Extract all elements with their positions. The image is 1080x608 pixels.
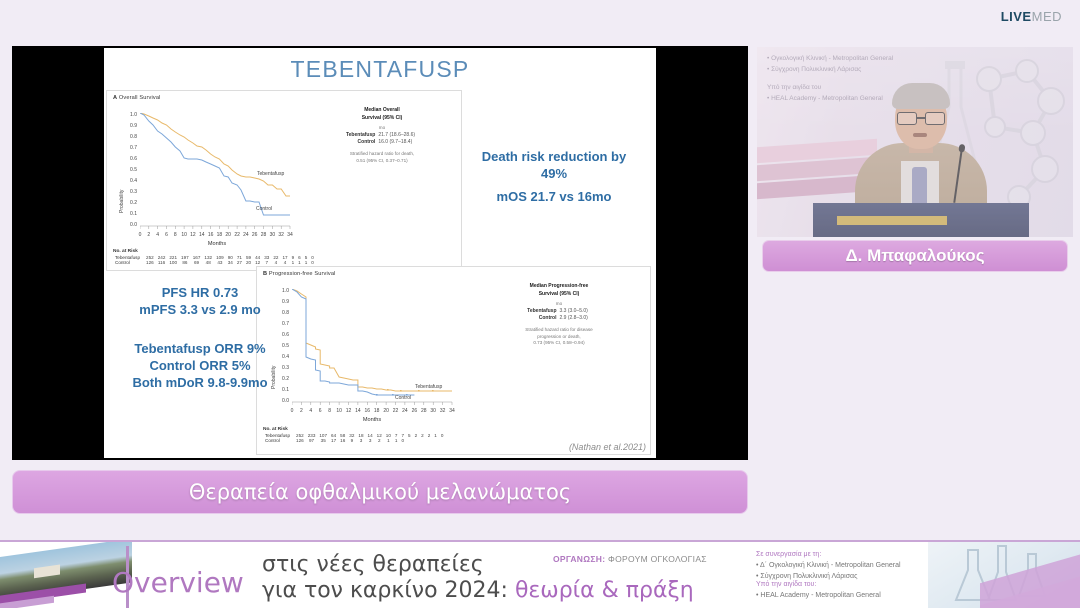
chart-a-ytick-0.5: 0.5 [121, 167, 137, 173]
banner-subtitle-line-1: στις νέες θεραπείες [262, 552, 484, 577]
chart-b-ytick-0.7: 0.7 [273, 321, 289, 327]
chart-a-stats: Median Overall Survival (95% CI) mo Tebe… [307, 107, 457, 164]
chart-a-risk-cell: 43 [214, 260, 226, 265]
chart-b-xlabel: Months [322, 417, 422, 423]
chart-a-stat-name-0: Tebentafusp [346, 132, 378, 140]
annotation-os-line-2: 49% [456, 165, 652, 182]
chart-a-risk-row-control: Control 126 116 100 86 69 48 43 34 27 20… [113, 260, 316, 265]
chart-b-risk-cell: 3 [366, 438, 375, 443]
chart-a-risk-cell: 34 [226, 260, 235, 265]
svg-text:Tebentafusp: Tebentafusp [415, 384, 442, 390]
chart-a-ytick-0.7: 0.7 [121, 145, 137, 151]
chart-a-ytick-0.0: 0.0 [121, 222, 137, 228]
chart-a-risk-cell: 7 [262, 260, 271, 265]
chart-a-ytick-0.8: 0.8 [121, 134, 137, 140]
chart-b-stat-name-1: Control [527, 315, 559, 323]
chart-a-stat-value-1: 16.0 (9.7–18.4) [378, 139, 418, 147]
top-bar: LIVEMED [0, 0, 1080, 36]
annotation-os-line-1: Death risk reduction by [456, 148, 652, 165]
bottom-banner: Overview στις νέες θεραπείες για τον καρ… [0, 540, 1080, 608]
chart-a-stat-row-control: Control 16.0 (9.7–18.4) [346, 139, 418, 147]
chart-a-hazard-line-1: Stratified hazard ratio for death, [307, 151, 457, 158]
chart-overall-survival: A Overall Survival 1.0 0.9 0.8 0.7 0.6 0… [106, 90, 462, 271]
brand-part-med: MED [1032, 9, 1062, 24]
speaker-name-bar: Δ. Μπαφαλούκος [762, 240, 1068, 272]
chart-b-risk-cell: 35 [317, 438, 329, 443]
chart-b-hazard-line-2: progression or death, [475, 334, 643, 341]
topic-label: Θεραπεία οφθαλμικού μελανώματος [189, 480, 571, 504]
chart-b-stat-row-control: Control 2.9 (2.8–3.0) [527, 315, 591, 323]
chart-b-risk-cell: 3 [356, 438, 365, 443]
annotation-orr-line-1: Tebentafusp ORR 9% [108, 340, 292, 357]
annotation-orr-line-3: Both mDoR 9.8-9.9mo [108, 374, 292, 391]
banner-aegis-header: Υπό την αιγίδα του: [756, 580, 881, 591]
annotation-pfs: PFS HR 0.73 mPFS 3.3 vs 2.9 mo [108, 284, 292, 318]
chart-b-risk-name-1: Control [263, 438, 294, 443]
chart-b-ytick-0.0: 0.0 [273, 398, 289, 404]
banner-aegis-item-1: • HEAL Academy - Metropolitan General [756, 591, 881, 602]
chart-a-risk-title: No. at Risk [113, 249, 316, 254]
chart-a-xlabel: Months [167, 241, 267, 247]
chart-a-title: Overall Survival [119, 95, 161, 101]
banner-subtitle-accent: θεωρία & πράξη [515, 578, 694, 603]
chart-b-risk-cell: 126 [294, 438, 306, 443]
chart-a-ytick-0.4: 0.4 [121, 178, 137, 184]
chart-b-plot: Tebentafusp Control [292, 289, 454, 407]
chart-b-letter: B [263, 271, 267, 277]
chart-a-stat-name-1: Control [346, 139, 378, 147]
chart-a-ytick-0.9: 0.9 [121, 123, 137, 129]
chart-b-risk-table: No. at Risk Tebentafusp 252 233 107 64 5… [263, 427, 445, 443]
chart-b-risk-cell: 16 [338, 438, 347, 443]
chart-a-hazard-note: Stratified hazard ratio for death, 0.51 … [307, 151, 457, 164]
chart-b-risk-cell: 97 [306, 438, 318, 443]
chart-a-risk-cell: 116 [156, 260, 168, 265]
chart-b-risk-row-control: Control 126 97 35 17 16 9 3 3 2 1 1 [263, 438, 445, 443]
annotation-os-line-3: mOS 21.7 vs 16mo [456, 188, 652, 205]
chart-a-stat-row-tebentafusp: Tebentafusp 21.7 (18.6–28.6) [346, 132, 418, 140]
banner-lab-graphic [928, 542, 1080, 608]
chart-b-risk-cell: 0 [439, 433, 446, 438]
chart-a-risk-cell: 20 [244, 260, 253, 265]
banner-subtitle-line-2: για τον καρκίνο 2024: θεωρία & πράξη [262, 578, 694, 603]
chart-b-ytick-0.6: 0.6 [273, 332, 289, 338]
chart-a-risk-cell: 4 [280, 260, 289, 265]
chart-b-stat-header-2: Survival (95% CI) [475, 291, 643, 299]
chart-a-risk-cell: 126 [144, 260, 156, 265]
chart-a-stat-value-0: 21.7 (18.6–28.6) [378, 132, 418, 140]
chart-a-ytick-0.6: 0.6 [121, 156, 137, 162]
chart-b-stat-units: mo [475, 301, 643, 308]
chart-a-risk-cell: 100 [167, 260, 179, 265]
slide-citation: (Nathan et al.2021) [569, 442, 646, 452]
chart-a-plot: Tebentafusp Control [140, 113, 292, 231]
chart-b-stat-header-1: Median Progression-free [475, 283, 643, 291]
svg-text:Tebentafusp: Tebentafusp [257, 171, 284, 177]
svg-text:Control: Control [256, 206, 272, 212]
banner-aegis: Υπό την αιγίδα του: • HEAL Academy - Met… [756, 580, 881, 602]
chart-b-risk-cell: 17 [329, 438, 338, 443]
livemed-logo: LIVEMED [1001, 9, 1062, 24]
banner-organizer-name: ΦΟΡΟΥΜ ΟΓΚΟΛΟΓΙΑΣ [608, 554, 707, 564]
banner-coop-item-1: • Δ´ Ογκολογική Κλινική - Metropolitan G… [756, 561, 901, 572]
topic-bar: Θεραπεία οφθαλμικού μελανώματος [12, 470, 748, 514]
presentation-slide: TEBENTAFUSP A Overall Survival 1.0 0.9 0… [104, 48, 656, 458]
chart-a-xtick-34: 34 [284, 232, 296, 238]
chart-a-stat-units: mo [307, 125, 457, 132]
banner-coop-header: Σε συνεργασία με τη: [756, 550, 901, 561]
chart-a-risk-table: No. at Risk Tebentafusp 252 242 221 197 … [113, 249, 316, 265]
brand-part-live: LIVE [1001, 9, 1032, 24]
chart-b-risk-title: No. at Risk [263, 427, 445, 432]
chart-b-panel-label: B Progression-free Survival [263, 271, 335, 277]
chart-a-ytick-1.0: 1.0 [121, 112, 137, 118]
chart-b-stats: Median Progression-free Survival (95% CI… [475, 283, 643, 347]
chart-b-stat-table: Tebentafusp 3.3 (3.0–5.0) Control 2.9 (2… [527, 308, 591, 323]
chart-b-risk-cell: 0 [399, 438, 406, 443]
annotation-pfs-line-2: mPFS 3.3 vs 2.9 mo [108, 301, 292, 318]
banner-cooperation: Σε συνεργασία με τη: • Δ´ Ογκολογική Κλι… [756, 550, 901, 583]
chart-b-risk-cell: 2 [375, 438, 384, 443]
chart-b-stat-value-0: 3.3 (3.0–5.0) [560, 308, 591, 316]
chart-b-xtick-34: 34 [446, 408, 458, 414]
chart-b-hazard-line-1: Stratified hazard ratio for disease [475, 327, 643, 334]
chart-a-risk-cell: 69 [191, 260, 203, 265]
chart-progression-free-survival: B Progression-free Survival 1.0 0.9 0.8 … [256, 266, 651, 455]
chart-b-title: Progression-free Survival [269, 271, 336, 277]
chart-a-stat-header-1: Median Overall [307, 107, 457, 115]
chart-b-stat-name-0: Tebentafusp [527, 308, 559, 316]
chart-a-risk-cell: 48 [202, 260, 214, 265]
video-overlay-tint [757, 47, 1073, 237]
chart-a-risk-cell: 4 [271, 260, 280, 265]
screen-root: LIVEMED TEBENTAFUSP A Overall Survival 1… [0, 0, 1080, 608]
chart-a-stat-header-2: Survival (95% CI) [307, 115, 457, 123]
chart-a-ylabel: Probability [119, 190, 125, 213]
annotation-orr: Tebentafusp ORR 9% Control ORR 5% Both m… [108, 340, 292, 391]
chart-b-hazard-note: Stratified hazard ratio for disease prog… [475, 327, 643, 347]
slide-stage[interactable]: TEBENTAFUSP A Overall Survival 1.0 0.9 0… [12, 46, 748, 460]
chart-a-letter: A [113, 95, 117, 101]
chart-a-hazard-line-2: 0.51 (95% CI, 0.37–0.71) [307, 158, 457, 165]
chart-b-hazard-line-3: 0.73 (95% CI, 0.58–0.94) [475, 340, 643, 347]
banner-organizer: ΟΡΓΑΝΩΣΗ: ΦΟΡΟΥΜ ΟΓΚΟΛΟΓΙΑΣ [553, 554, 707, 564]
chart-b-risk-cell: 1 [384, 438, 393, 443]
chart-b-risk-cell: 9 [347, 438, 356, 443]
chart-a-risk-cell: 86 [179, 260, 191, 265]
banner-organizer-label: ΟΡΓΑΝΩΣΗ: [553, 554, 605, 564]
annotation-orr-line-2: Control ORR 5% [108, 357, 292, 374]
banner-overview-title: Overview [112, 566, 244, 599]
banner-subtitle-plain: για τον καρκίνο 2024: [262, 578, 508, 603]
chart-a-risk-cell: 12 [253, 260, 262, 265]
chart-a-risk-cell: 27 [235, 260, 244, 265]
speaker-name: Δ. Μπαφαλούκος [845, 246, 984, 266]
chart-a-panel-label: A Overall Survival [113, 95, 161, 101]
chart-a-stat-table: Tebentafusp 21.7 (18.6–28.6) Control 16.… [346, 132, 418, 147]
chart-a-risk-name-1: Control [113, 260, 144, 265]
speaker-video[interactable]: • Ογκολογική Κλινική - Metropolitan Gene… [757, 47, 1073, 237]
chart-a-risk-cell: 0 [309, 260, 316, 265]
slide-title: TEBENTAFUSP [104, 56, 656, 83]
svg-text:Control: Control [395, 395, 411, 401]
chart-b-stat-row-tebentafusp: Tebentafusp 3.3 (3.0–5.0) [527, 308, 591, 316]
annotation-overall-survival: Death risk reduction by 49% mOS 21.7 vs … [456, 148, 652, 205]
annotation-pfs-line-1: PFS HR 0.73 [108, 284, 292, 301]
chart-b-stat-value-1: 2.9 (2.8–3.0) [560, 315, 591, 323]
